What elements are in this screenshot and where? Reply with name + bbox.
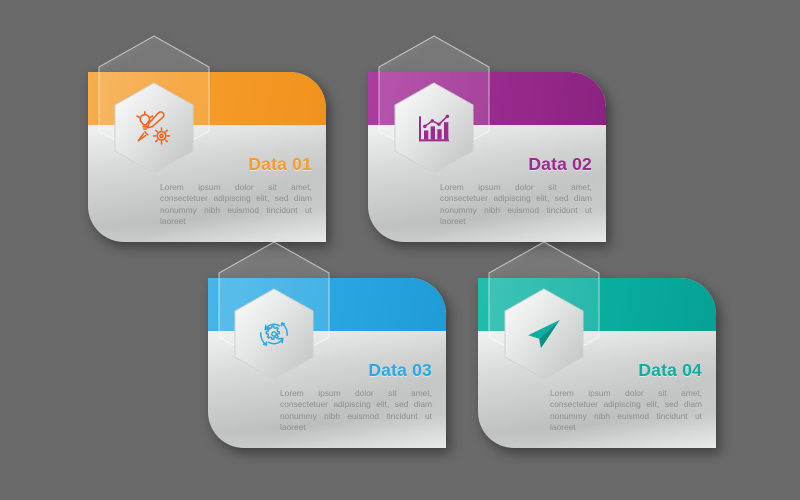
card-description: Lorem ipsum dolor sit amet, consectetuer… [280,388,432,434]
card-title: Data 02 [440,154,592,175]
card-text-block: Data 03 Lorem ipsum dolor sit amet, cons… [280,360,432,434]
infographic-canvas: Data 01 Lorem ipsum dolor sit amet, cons… [0,0,800,500]
info-card-01[interactable]: Data 01 Lorem ipsum dolor sit amet, cons… [88,72,326,242]
card-text-block: Data 04 Lorem ipsum dolor sit amet, cons… [550,360,702,434]
info-card-03[interactable]: Data 03 Lorem ipsum dolor sit amet, cons… [208,278,446,448]
card-text-block: Data 02 Lorem ipsum dolor sit amet, cons… [440,154,592,228]
info-card-02[interactable]: Data 02 Lorem ipsum dolor sit amet, cons… [368,72,606,242]
info-card-04[interactable]: Data 04 Lorem ipsum dolor sit amet, cons… [478,278,716,448]
card-title: Data 01 [160,154,312,175]
card-title: Data 03 [280,360,432,381]
card-description: Lorem ipsum dolor sit amet, consectetuer… [160,182,312,228]
card-title: Data 04 [550,360,702,381]
card-description: Lorem ipsum dolor sit amet, consectetuer… [550,388,702,434]
card-text-block: Data 01 Lorem ipsum dolor sit amet, cons… [160,154,312,228]
card-description: Lorem ipsum dolor sit amet, consectetuer… [440,182,592,228]
